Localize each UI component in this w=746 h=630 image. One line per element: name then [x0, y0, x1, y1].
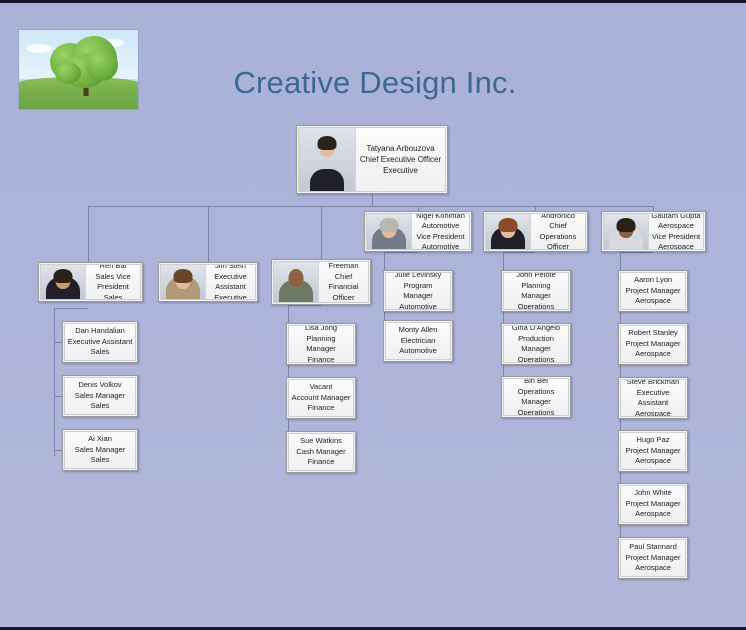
node-name: Nigel Kohlman: [414, 213, 467, 221]
node-department: Aerospace: [623, 509, 683, 520]
node-title: Sales Vice President: [88, 272, 138, 293]
connector: [88, 206, 89, 262]
node-name: Paul Stannard: [623, 542, 683, 553]
node-department: Aerospace: [623, 456, 683, 467]
node-title: Aerospace Vice President: [651, 221, 701, 242]
node-department: Automotive: [414, 242, 467, 250]
connector: [208, 206, 209, 262]
node-title: Sales Manager: [67, 445, 133, 456]
avatar: [274, 262, 319, 302]
node-name: Steve Brickman: [623, 379, 683, 388]
node-name: Tatyana Arbouzova: [358, 143, 443, 154]
node-name: Monty Allen: [388, 325, 448, 336]
node-department: Operations: [506, 355, 566, 364]
node-title: Project Manager: [623, 446, 683, 457]
connector: [54, 396, 62, 397]
node-title: Planning Manager: [506, 281, 566, 302]
node-name: Vacant: [291, 382, 351, 393]
org-node-john-white[interactable]: John White Project Manager Aerospace: [618, 483, 688, 525]
connector: [503, 252, 535, 253]
node-title: Automotive Vice President: [414, 221, 467, 242]
org-node-bin-bei[interactable]: Bin Bei Operations Manager Operations: [501, 376, 571, 418]
node-department: Automotive: [388, 302, 448, 311]
node-department: Aerospace: [623, 349, 683, 360]
node-title: Chief Executive Officer: [358, 154, 443, 165]
connector: [54, 450, 62, 451]
org-node-vacant-account-manager[interactable]: Vacant Account Manager Finance: [286, 377, 356, 419]
node-department: Aerospace: [623, 563, 683, 574]
org-node-sue-watkins[interactable]: Sue Watkins Cash Manager Finance: [286, 431, 356, 473]
node-title: Sales Manager: [67, 391, 133, 402]
org-node-ai-xian[interactable]: Ai Xian Sales Manager Sales: [62, 429, 138, 471]
node-name: Robert Stanley: [623, 328, 683, 339]
node-title: Executive Assistant: [208, 272, 253, 293]
photo-tree-canopy: [55, 62, 81, 84]
node-name: Sue Watkins: [291, 436, 351, 447]
photo-tree-canopy: [86, 49, 118, 81]
node-name: Angela Andronico: [533, 213, 583, 221]
node-department: Aerospace: [623, 296, 683, 307]
node-name: Gina D'Angelo: [506, 325, 566, 334]
org-node-monty-allen[interactable]: Monty Allen Electrician Automotive: [383, 320, 453, 362]
node-department: Executive: [358, 165, 443, 176]
slide-canvas: Creative Design Inc.: [0, 0, 746, 630]
org-node-oliver-freeman[interactable]: Oliver Freeman Chief Financial Officer F…: [271, 259, 371, 305]
org-node-gautam-gupta[interactable]: Gautam Gupta Aerospace Vice President Ae…: [601, 211, 706, 252]
avatar: [604, 214, 649, 249]
node-department: Sales: [67, 347, 133, 358]
node-name: Dan Handalian: [67, 326, 133, 337]
node-name: Ai Xian: [67, 434, 133, 445]
node-name: Jim Stein: [208, 264, 253, 272]
org-node-john-pelote[interactable]: John Pelote Planning Manager Operations: [501, 270, 571, 312]
node-title: Project Manager: [623, 286, 683, 297]
node-title: Project Manager: [623, 499, 683, 510]
connector-spine: [54, 308, 55, 456]
avatar: [161, 265, 206, 299]
org-node-ceo[interactable]: Tatyana Arbouzova Chief Executive Office…: [296, 125, 448, 194]
node-department: Automotive: [388, 346, 448, 357]
connector: [54, 342, 62, 343]
connector: [372, 194, 373, 206]
avatar: [299, 128, 356, 191]
node-department: Sales: [88, 293, 138, 301]
node-name: Gautam Gupta: [651, 213, 701, 221]
node-title: Chief Financial Officer: [321, 272, 366, 304]
connector: [620, 252, 653, 253]
node-title: Planning Manager: [291, 334, 351, 355]
node-department: Aerospace: [651, 242, 701, 250]
node-name: Ren Bai: [88, 264, 138, 272]
node-department: Executive: [208, 293, 253, 301]
node-department: Finance: [291, 403, 351, 414]
org-node-dan-handalian[interactable]: Dan Handalian Executive Assistant Sales: [62, 321, 138, 363]
node-title: Program Manager: [388, 281, 448, 302]
connector: [384, 252, 418, 253]
node-name: Oliver Freeman: [321, 261, 366, 272]
node-name: Hugo Paz: [623, 435, 683, 446]
connector: [321, 206, 322, 259]
connector-bus: [88, 206, 653, 207]
connector: [54, 308, 88, 309]
node-name: John Pelote: [506, 272, 566, 281]
node-name: Lisa Jong: [291, 325, 351, 334]
node-title: Project Manager: [623, 553, 683, 564]
org-node-gina-dangelo[interactable]: Gina D'Angelo Production Manager Operati…: [501, 323, 571, 365]
org-node-aaron-lyon[interactable]: Aaron Lyon Project Manager Aerospace: [618, 270, 688, 312]
node-title: Project Manager: [623, 339, 683, 350]
node-name: Bin Bei: [506, 378, 566, 387]
node-department: Finance: [291, 457, 351, 468]
node-name: Denis Volkov: [67, 380, 133, 391]
org-node-angela-andronico[interactable]: Angela Andronico Chief Operations Office…: [483, 211, 588, 252]
node-title: Account Manager: [291, 393, 351, 404]
node-title: Chief Operations Officer: [533, 221, 583, 250]
avatar: [367, 214, 412, 249]
node-title: Executive Assistant: [623, 388, 683, 409]
node-name: Julie Levinsky: [388, 272, 448, 281]
node-name: Aaron Lyon: [623, 275, 683, 286]
org-node-ren-bai[interactable]: Ren Bai Sales Vice President Sales: [38, 262, 143, 302]
node-department: Finance: [291, 355, 351, 364]
node-title: Cash Manager: [291, 447, 351, 458]
org-node-paul-stannard[interactable]: Paul Stannard Project Manager Aerospace: [618, 537, 688, 579]
avatar: [41, 265, 86, 299]
org-node-steve-brickman[interactable]: Steve Brickman Executive Assistant Aeros…: [618, 377, 688, 419]
org-node-jim-stein[interactable]: Jim Stein Executive Assistant Executive: [158, 262, 258, 302]
org-node-lisa-jong[interactable]: Lisa Jong Planning Manager Finance: [286, 323, 356, 365]
node-title: Production Manager: [506, 334, 566, 355]
node-department: Sales: [67, 455, 133, 466]
org-node-nigel-kohlman[interactable]: Nigel Kohlman Automotive Vice President …: [364, 211, 472, 252]
org-node-denis-volkov[interactable]: Denis Volkov Sales Manager Sales: [62, 375, 138, 417]
node-department: Operations: [506, 408, 566, 417]
node-department: Operations: [506, 302, 566, 311]
avatar: [486, 214, 531, 249]
node-department: Aerospace: [623, 409, 683, 418]
node-department: Sales: [67, 401, 133, 412]
org-node-hugo-paz[interactable]: Hugo Paz Project Manager Aerospace: [618, 430, 688, 472]
page-title: Creative Design Inc.: [160, 65, 590, 101]
node-title: Executive Assistant: [67, 337, 133, 348]
node-title: Electrician: [388, 336, 448, 347]
org-node-robert-stanley[interactable]: Robert Stanley Project Manager Aerospace: [618, 323, 688, 365]
org-node-julie-levinsky[interactable]: Julie Levinsky Program Manager Automotiv…: [383, 270, 453, 312]
node-title: Operations Manager: [506, 387, 566, 408]
connector: [288, 305, 321, 306]
tree-in-meadow-photo: [18, 29, 139, 110]
node-name: John White: [623, 488, 683, 499]
